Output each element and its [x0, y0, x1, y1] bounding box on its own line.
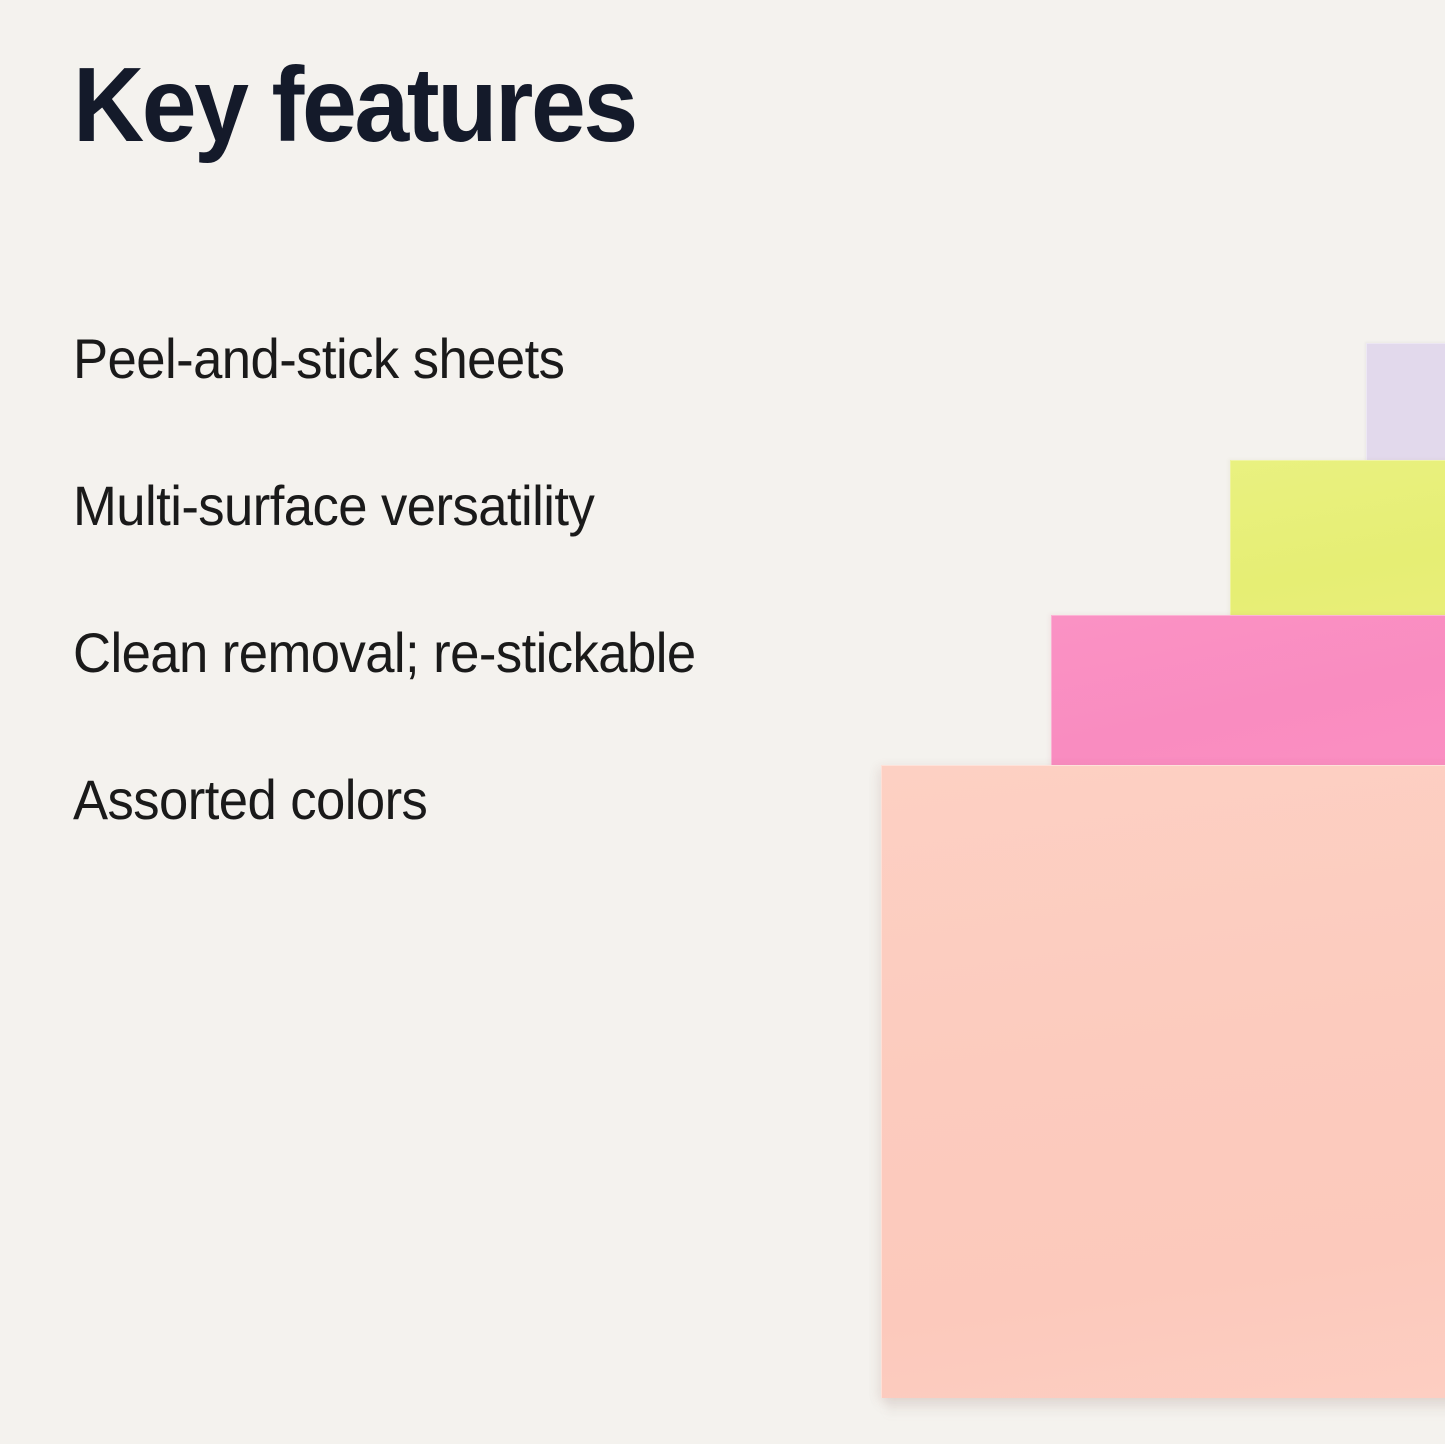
- sticky-note-pink: [1051, 615, 1445, 771]
- page-title: Key features: [73, 52, 636, 158]
- list-item: Assorted colors: [73, 769, 873, 916]
- feature-label: Peel-and-stick sheets: [73, 328, 564, 390]
- sticky-note-lavender: [1366, 343, 1445, 474]
- list-item: Peel-and-stick sheets: [73, 328, 873, 475]
- sticky-note-yellow: [1230, 460, 1445, 621]
- list-item: Clean removal; re-stickable: [73, 622, 873, 769]
- feature-label: Assorted colors: [73, 769, 427, 831]
- feature-label: Clean removal; re-stickable: [73, 622, 696, 684]
- list-item: Multi-surface versatility: [73, 475, 873, 622]
- feature-list: Peel-and-stick sheets Multi-surface vers…: [73, 328, 873, 916]
- product-feature-card: Key features Peel-and-stick sheets Multi…: [0, 0, 1445, 1444]
- sticky-note-peach: [881, 765, 1445, 1398]
- feature-label: Multi-surface versatility: [73, 475, 594, 537]
